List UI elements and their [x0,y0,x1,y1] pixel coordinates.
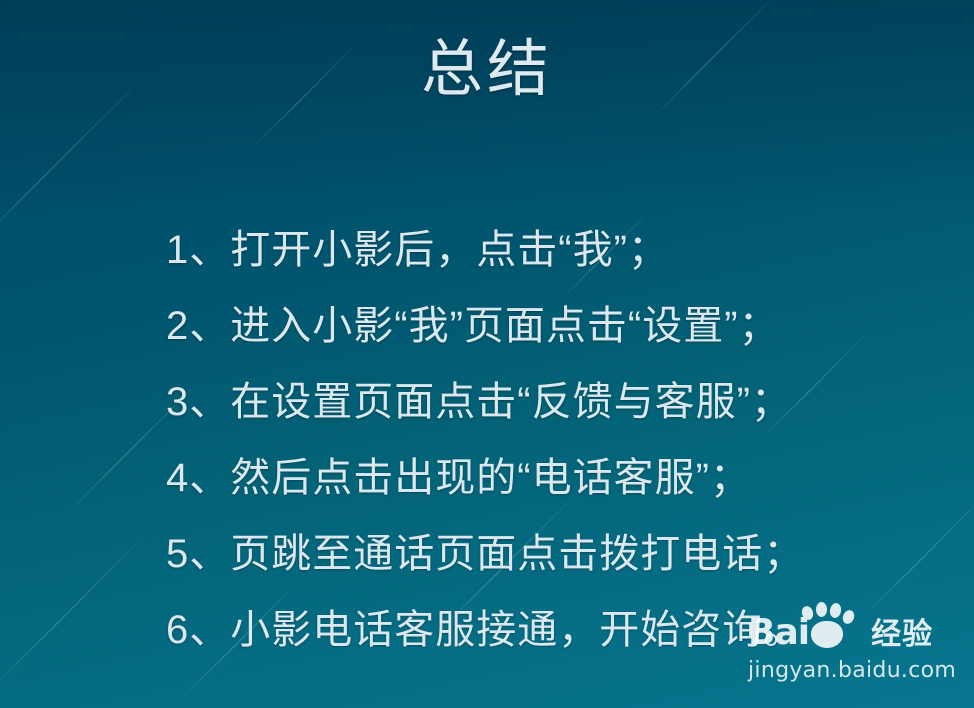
list-item: 2、进入小影“我”页面点击“设置”； [166,288,934,364]
list-item: 5、页跳至通话页面点击拨打电话； [166,516,934,592]
list-item: 3、在设置页面点击“反馈与客服”； [166,364,934,440]
streak-line [0,542,139,691]
slide-canvas: 总结 1、打开小影后，点击“我”； 2、进入小影“我”页面点击“设置”； 3、在… [0,0,974,708]
streak-line [0,88,133,251]
steps-list: 1、打开小影后，点击“我”； 2、进入小影“我”页面点击“设置”； 3、在设置页… [166,212,934,668]
list-item: 1、打开小影后，点击“我”； [166,212,934,288]
list-item: 4、然后点击出现的“电话客服”； [166,440,934,516]
list-item: 6、小影电话客服接通，开始咨询。 [166,592,934,668]
page-title: 总结 [0,36,974,104]
